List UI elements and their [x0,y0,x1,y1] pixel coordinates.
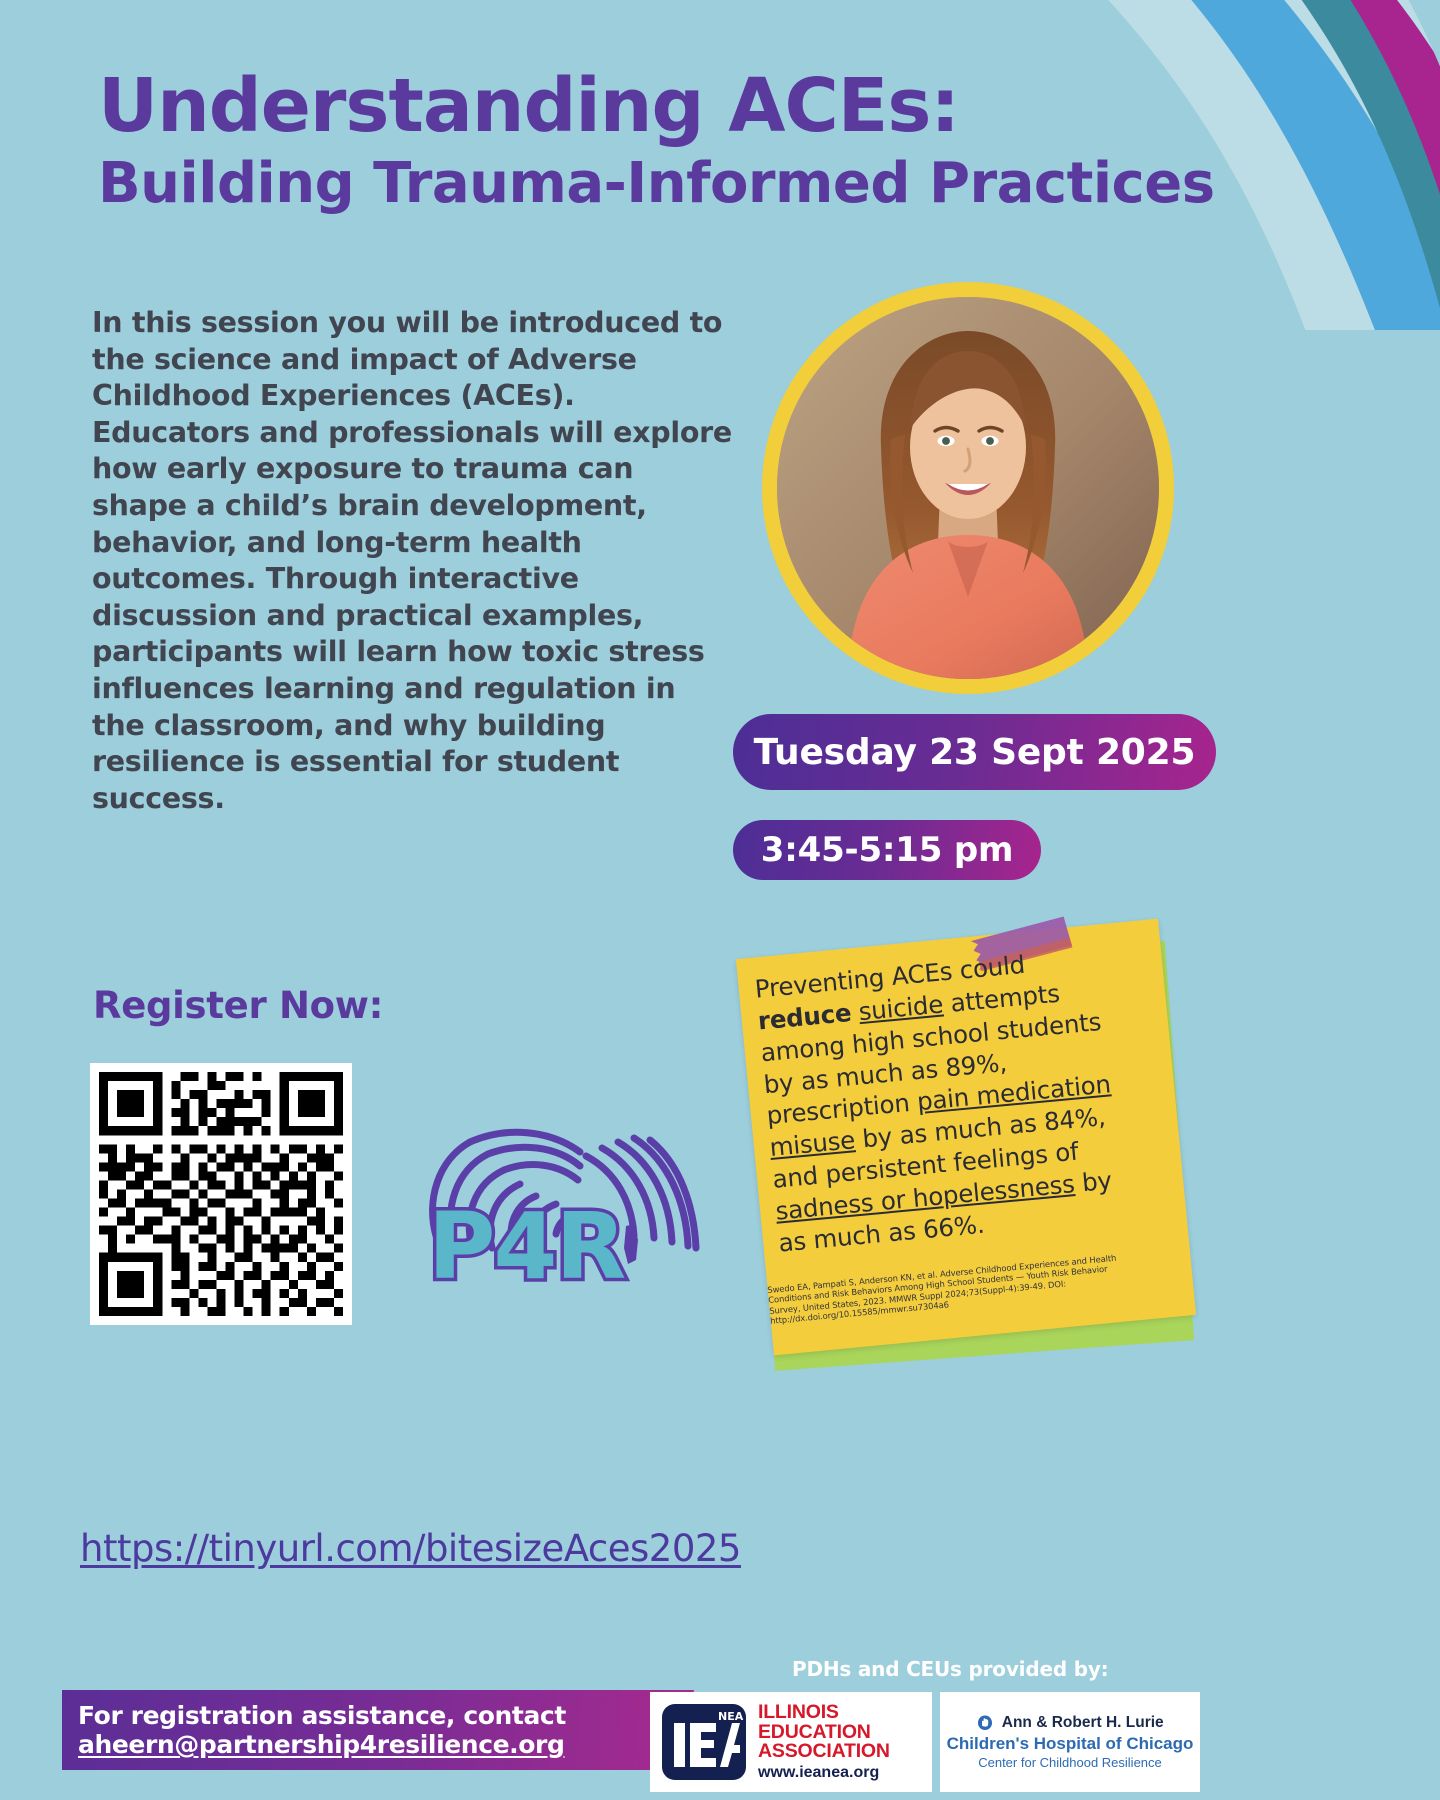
pdh-ceu-label: PDHs and CEUs provided by: [792,1657,1108,1681]
iea-url: www.ieanea.org [758,1765,890,1781]
lurie-hand-icon [976,1714,994,1732]
flyer-canvas: Understanding ACEs: Building Trauma-Info… [0,0,1440,1800]
svg-text:NEA: NEA [718,1710,744,1723]
note-seg-reduce: reduce [757,998,853,1036]
p4r-logo: P4R [410,1108,700,1298]
qr-code[interactable] [90,1063,352,1325]
lurie-logo: Ann & Robert H. Lurie Children's Hospita… [940,1692,1200,1792]
title-line-1: Understanding ACEs: [98,70,1218,143]
title-line-2: Building Trauma-Informed Practices [98,155,1218,214]
event-date-badge: Tuesday 23 Sept 2025 [733,714,1216,790]
statistic-sticky-note: Preventing ACEs could reduce suicide att… [740,920,1210,1380]
lurie-line-1: Ann & Robert H. Lurie [1002,1714,1164,1731]
contact-banner: For registration assistance, contact ahe… [62,1690,694,1770]
svg-text:P4R: P4R [428,1193,624,1298]
speaker-photo-ring [762,282,1174,694]
contact-email[interactable]: aheern@partnership4resilience.org [78,1730,694,1759]
lurie-line-2: Children's Hospital of Chicago [947,1734,1194,1753]
event-time-badge: 3:45-5:15 pm [733,820,1041,880]
note-seg-suicide: suicide [857,989,944,1026]
contact-line-1: For registration assistance, contact [78,1701,694,1730]
iea-line-1: ILLINOIS [758,1703,890,1723]
lurie-line-3: Center for Childhood Resilience [947,1756,1194,1771]
registration-url-link[interactable]: https://tinyurl.com/bitesizeAces2025 [80,1527,741,1570]
register-heading: Register Now: [93,984,383,1027]
iea-logo: NEA ILLINOIS EDUCATION ASSOCIATION www.i… [650,1692,932,1792]
page-title: Understanding ACEs: Building Trauma-Info… [98,70,1218,213]
iea-wordmark: ILLINOIS EDUCATION ASSOCIATION www.ieane… [758,1703,890,1781]
sticky-note-text: Preventing ACEs could reduce suicide att… [754,939,1151,1259]
speaker-photo [777,297,1159,679]
session-description: In this session you will be introduced t… [92,305,732,818]
iea-line-3: ASSOCIATION [758,1742,890,1762]
